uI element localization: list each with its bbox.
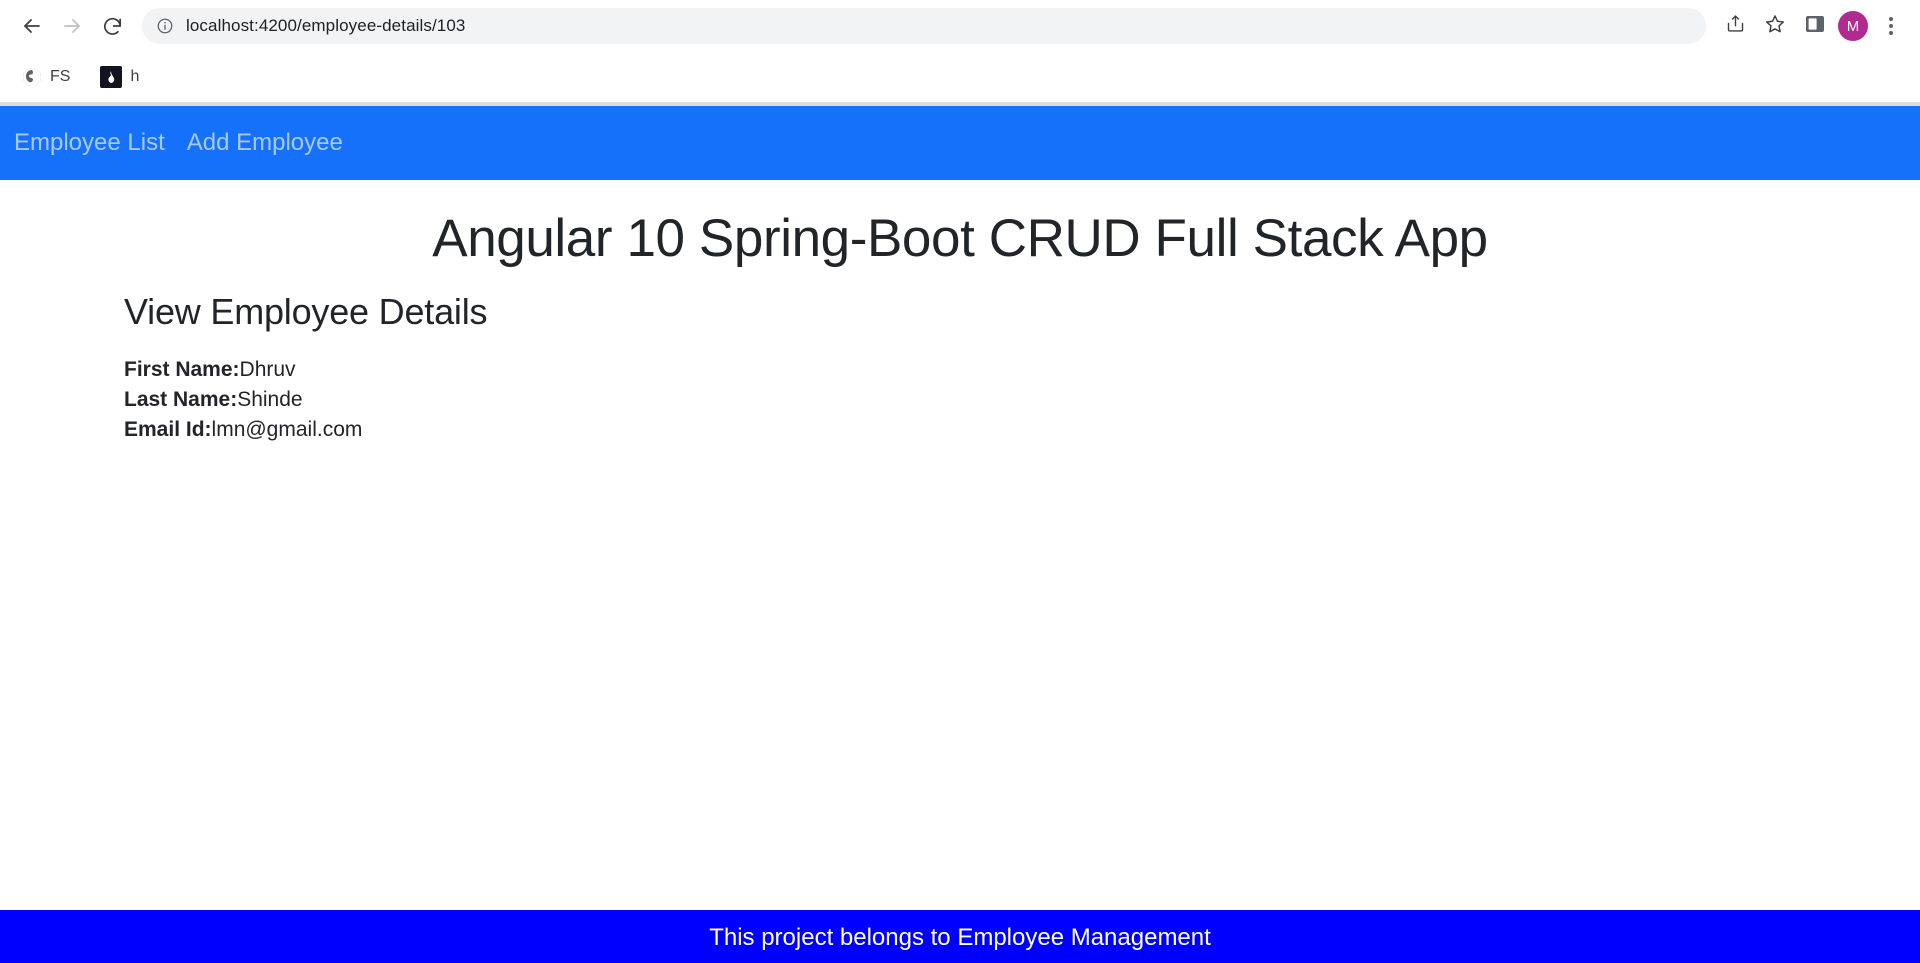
- bookmark-label: h: [130, 68, 139, 86]
- bookmark-label: FS: [50, 68, 70, 86]
- detail-row-first-name: First Name:Dhruv: [124, 355, 1920, 385]
- detail-label: Last Name:: [124, 388, 237, 411]
- detail-label: First Name:: [124, 358, 240, 381]
- bookmark-star-button[interactable]: [1758, 9, 1792, 43]
- app-navbar: Employee List Add Employee: [0, 106, 1920, 180]
- employee-details-panel: View Employee Details First Name:Dhruv L…: [0, 269, 1920, 444]
- toolbar-right-actions: M: [1718, 6, 1908, 46]
- share-icon: [1725, 13, 1746, 39]
- app-footer: This project belongs to Employee Managem…: [0, 910, 1920, 963]
- detail-value: Dhruv: [240, 358, 296, 381]
- bookmark-item-h[interactable]: h: [92, 62, 147, 92]
- footer-text: This project belongs to Employee Managem…: [709, 924, 1211, 952]
- detail-row-last-name: Last Name:Shinde: [124, 385, 1920, 415]
- nav-link-employee-list[interactable]: Employee List: [14, 131, 165, 155]
- forward-button[interactable]: [52, 6, 92, 46]
- section-heading: View Employee Details: [124, 291, 1920, 333]
- detail-value: Shinde: [237, 388, 302, 411]
- star-icon: [1764, 13, 1786, 40]
- avatar[interactable]: M: [1838, 11, 1868, 41]
- globe-icon: [22, 67, 42, 87]
- browser-toolbar: localhost:4200/employee-details/103: [0, 0, 1920, 52]
- detail-label: Email Id:: [124, 418, 212, 441]
- side-panel-button[interactable]: [1798, 9, 1832, 43]
- bookmark-item-fs[interactable]: FS: [14, 62, 78, 92]
- flame-favicon-icon: [100, 66, 122, 88]
- address-bar[interactable]: localhost:4200/employee-details/103: [142, 8, 1706, 44]
- page-viewport: Employee List Add Employee Angular 10 Sp…: [0, 106, 1920, 963]
- share-button[interactable]: [1718, 9, 1752, 43]
- reload-button[interactable]: [92, 6, 132, 46]
- page-body: Angular 10 Spring-Boot CRUD Full Stack A…: [0, 180, 1920, 963]
- back-button[interactable]: [12, 6, 52, 46]
- page-title: Angular 10 Spring-Boot CRUD Full Stack A…: [0, 208, 1920, 269]
- side-panel-icon: [1805, 14, 1825, 39]
- nav-link-add-employee[interactable]: Add Employee: [187, 131, 343, 155]
- arrow-left-icon: [20, 14, 44, 38]
- reload-icon: [101, 15, 124, 38]
- browser-chrome: localhost:4200/employee-details/103: [0, 0, 1920, 106]
- detail-value: lmn@gmail.com: [212, 418, 363, 441]
- detail-row-email-id: Email Id:lmn@gmail.com: [124, 415, 1920, 445]
- bookmarks-bar: FS h: [0, 52, 1920, 102]
- arrow-right-icon: [60, 14, 84, 38]
- three-dots-menu-icon[interactable]: [1874, 6, 1908, 46]
- info-circle-icon[interactable]: [156, 17, 174, 35]
- url-text: localhost:4200/employee-details/103: [186, 16, 465, 36]
